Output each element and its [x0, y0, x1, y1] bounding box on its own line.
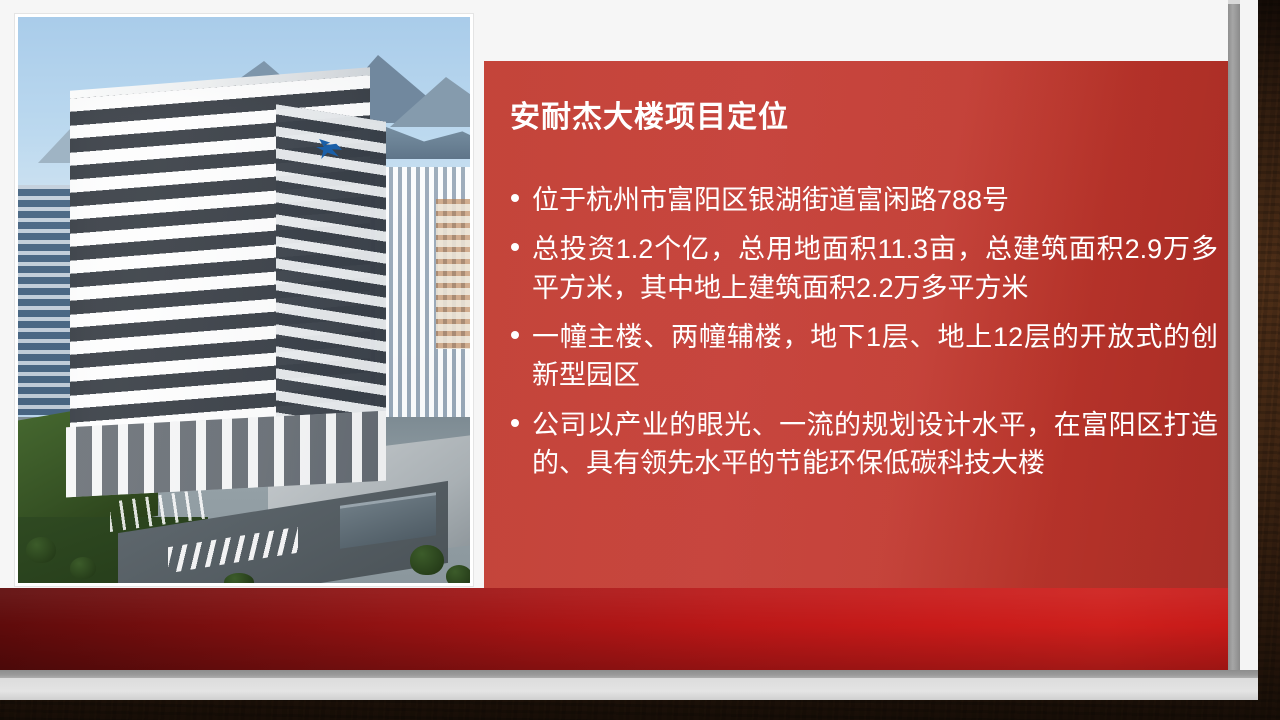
- photo-tree: [26, 537, 56, 563]
- building-photo: [18, 17, 470, 583]
- photo-tree: [70, 557, 96, 579]
- bullet-text: 公司以产业的眼光、一流的规划设计水平，在富阳区打造的、具有领先水平的节能环保低碳…: [532, 406, 1218, 483]
- vertical-scrollbar[interactable]: [1228, 0, 1240, 678]
- bullet-dot-icon: [511, 194, 519, 202]
- bullet-text: 位于杭州市富阳区银湖街道富闲路788号: [532, 181, 1218, 219]
- list-item: 位于杭州市富阳区银湖街道富闲路788号: [506, 181, 1218, 219]
- bottom-red-banner: [0, 588, 1228, 671]
- vertical-scrollbar-cap: [1228, 0, 1240, 4]
- slide-sheet: 安耐杰大楼项目定位 位于杭州市富阳区银湖街道富闲路788号 总投资1.2个亿，总…: [0, 0, 1258, 700]
- bullet-list: 位于杭州市富阳区银湖街道富闲路788号 总投资1.2个亿，总用地面积11.3亩，…: [506, 181, 1218, 493]
- photo-main-building-side: [276, 104, 386, 441]
- bullet-dot-icon: [511, 419, 519, 427]
- photo-background-buildings-far-right: [436, 199, 470, 349]
- photo-mountain: [390, 77, 470, 127]
- bullet-text: 总投资1.2个亿，总用地面积11.3亩，总建筑面积2.9万多平方米，其中地上建筑…: [532, 230, 1218, 307]
- building-photo-frame[interactable]: [15, 14, 473, 586]
- list-item: 总投资1.2个亿，总用地面积11.3亩，总建筑面积2.9万多平方米，其中地上建筑…: [506, 230, 1218, 307]
- list-item: 公司以产业的眼光、一流的规划设计水平，在富阳区打造的、具有领先水平的节能环保低碳…: [506, 406, 1218, 483]
- page-title: 安耐杰大楼项目定位: [510, 101, 789, 134]
- bullet-dot-icon: [511, 331, 519, 339]
- content-panel: 安耐杰大楼项目定位 位于杭州市富阳区银湖街道富闲路788号 总投资1.2个亿，总…: [484, 61, 1228, 589]
- slide-right-margin: [1240, 0, 1258, 678]
- presentation-stage: 安耐杰大楼项目定位 位于杭州市富阳区银湖街道富闲路788号 总投资1.2个亿，总…: [0, 0, 1280, 720]
- bottom-red-banner-gloss: [0, 588, 1228, 671]
- bullet-dot-icon: [511, 243, 519, 251]
- photo-tree: [446, 565, 470, 583]
- list-item: 一幢主楼、两幢辅楼，地下1层、地上12层的开放式的创新型园区: [506, 318, 1218, 395]
- photo-tree: [410, 545, 444, 575]
- bullet-text: 一幢主楼、两幢辅楼，地下1层、地上12层的开放式的创新型园区: [532, 318, 1218, 395]
- slide-bottom-edge: [0, 678, 1258, 700]
- photo-building-side-bands: [276, 104, 386, 441]
